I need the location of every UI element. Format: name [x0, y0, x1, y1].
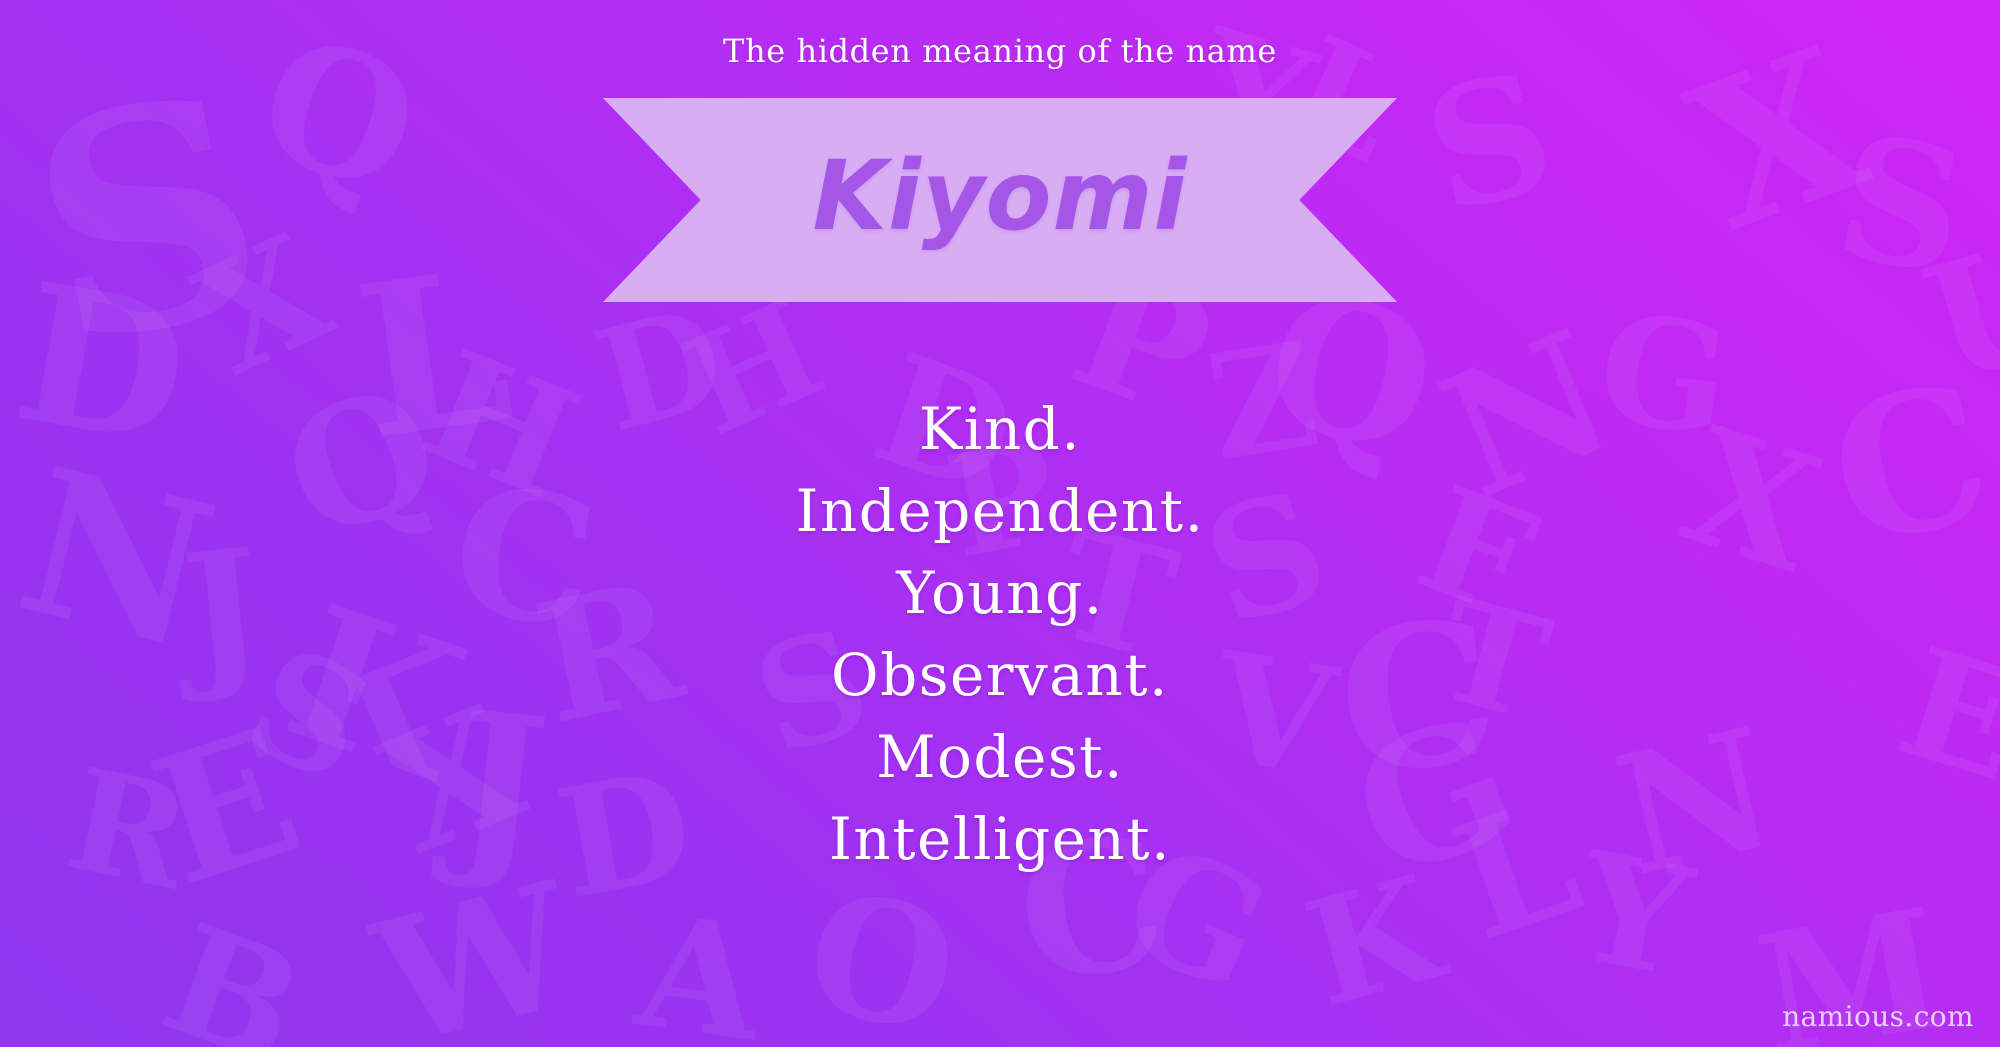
- site-watermark: namious.com: [1782, 1000, 1974, 1033]
- name-meaning-graphic: SQXDLHDNQCJKRSERXJDYSLXSUPZQNGCXSFCTGVNE…: [0, 0, 2000, 1047]
- background-letter: A: [630, 892, 771, 1047]
- background-letter: S: [1412, 48, 1568, 237]
- background-letter: W: [362, 859, 588, 1047]
- page-title: The hidden meaning of the name: [0, 32, 2000, 70]
- meaning-line: Modest.: [0, 716, 2000, 798]
- background-letter: B: [148, 903, 318, 1047]
- meaning-line: Kind.: [0, 388, 2000, 470]
- meaning-line: Intelligent.: [0, 798, 2000, 880]
- background-letter: S: [1826, 111, 1976, 300]
- background-letter: O: [794, 867, 969, 1047]
- meaning-line: Independent.: [0, 470, 2000, 552]
- meaning-word-list: Kind.Independent.Young.Observant.Modest.…: [0, 388, 2000, 880]
- background-letter: K: [1293, 856, 1452, 1029]
- background-letter: S: [11, 51, 285, 389]
- name-text: Kiyomi: [603, 98, 1397, 302]
- background-letter: X: [179, 212, 348, 397]
- meaning-line: Observant.: [0, 634, 2000, 716]
- meaning-line: Young.: [0, 552, 2000, 634]
- name-banner: Kiyomi: [603, 98, 1397, 302]
- background-letter: U: [1911, 214, 2000, 406]
